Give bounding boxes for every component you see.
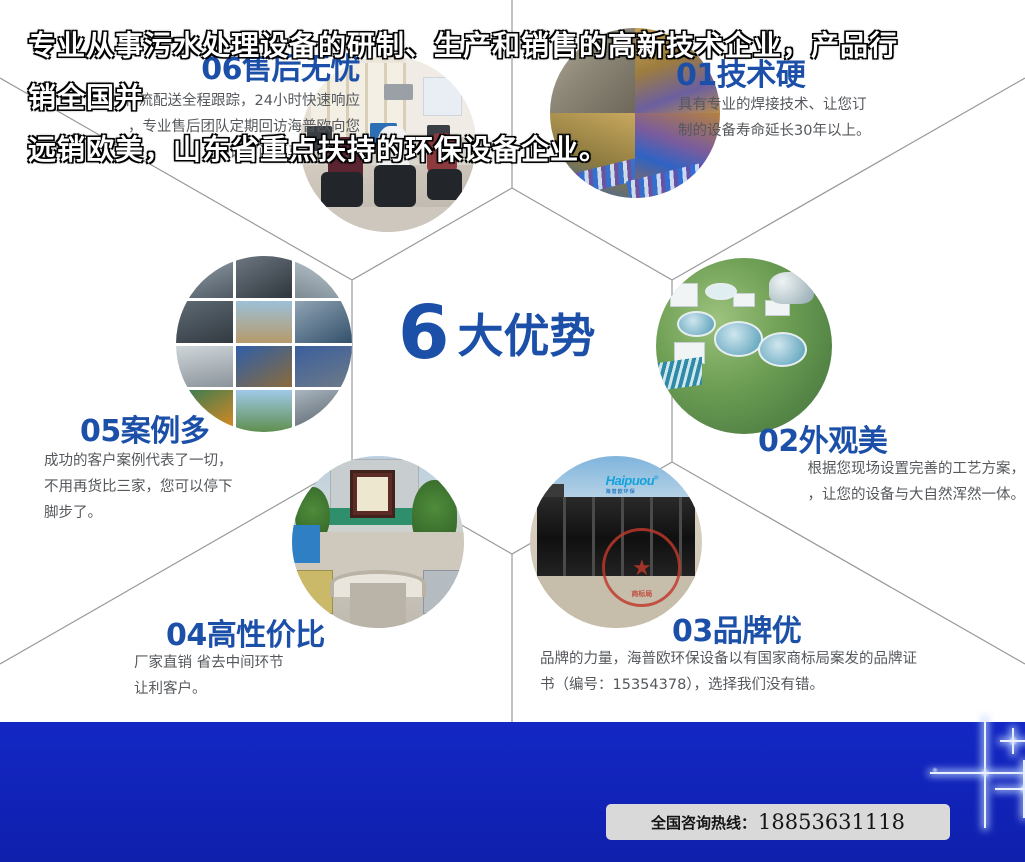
center-number: 6 [398,290,450,376]
feature-heading-02: 02外观美 [758,416,887,460]
aerial-treatment-plant-photo [656,258,832,434]
stamp-star-icon: ★ [632,555,652,581]
feature-heading-05: 05案例多 [80,406,209,450]
banner-slogan: 专业从事污水处理设备的研制、生产和销售的高新技术企业，产品行销全国并 远销欧美，… [28,20,908,176]
feature-heading-03: 03品牌优 [672,606,801,650]
bottom-banner [0,722,1025,862]
advantages-infographic: 06售后无忧 物流配送全程跟踪，24小时快速响应 ，专业售后团队定期回访海普欧向… [0,0,1025,862]
feature-heading-04: 04高性价比 [166,610,325,654]
haipuou-logo: Haipuou® 海普欧环保 [606,473,658,495]
feature-body-03: 品牌的力量，海普欧环保设备以有国家商标局案发的品牌证 书（编号：15354378… [540,646,1025,698]
hotline-box[interactable]: 全国咨询热线： 18853631118 [606,804,950,840]
feature-body-04: 厂家直销 省去中间环节 让利客户。 [134,650,394,702]
banner-slogan-line1: 专业从事污水处理设备的研制、生产和销售的高新技术企业，产品行销全国并 [28,20,908,124]
haipuou-sub-text: 海普欧环保 [606,488,658,495]
banner-slogan-line2: 远销欧美，山东省重点扶持的环保设备企业。 [28,124,908,176]
hotline-number: 18853631118 [758,810,905,834]
stamp-text: 商标局 [631,589,652,599]
hotline-label: 全国咨询热线： [651,812,756,833]
center-title: 6大优势 [398,296,596,370]
feature-body-02: 根据您现场设置完善的工艺方案， ，让您的设备与大自然浑然一体。 [700,456,1025,508]
haipuou-brand-text: Haipuou [606,473,655,488]
factory-gate-photo [292,456,464,628]
equipment-with-stamp-photo: Haipuou® 海普欧环保 ★ 商标局 [530,456,702,628]
center-suffix: 大优势 [458,309,596,363]
